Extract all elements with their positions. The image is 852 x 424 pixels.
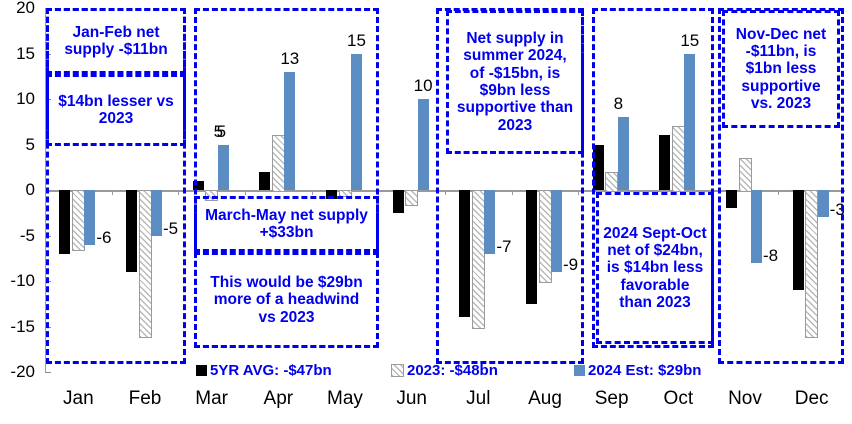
legend-item-2[interactable]: 2024 Est: $29bn — [574, 362, 701, 379]
y-tick-label: 0 — [0, 180, 35, 200]
annotation-summer: Net supply in summer 2024, of -$15bn, is… — [446, 10, 584, 154]
y-tick-label: -15 — [0, 317, 35, 337]
legend-label-2: 2024 Est: $29bn — [588, 362, 701, 379]
y-tick-label: 10 — [0, 89, 35, 109]
bar-jun-2 — [418, 99, 429, 190]
x-axis-label-sep: Sep — [578, 388, 645, 410]
x-axis-label-mar: Mar — [178, 388, 245, 410]
y-tick-label: 20 — [0, 0, 35, 18]
y-tick-label: 15 — [0, 44, 35, 64]
annotation-mar-may-bottom: This would be $29bn more of a headwind v… — [194, 252, 379, 348]
blue-square-icon — [574, 365, 585, 376]
x-axis-label-feb: Feb — [112, 388, 179, 410]
hatched-square-icon — [391, 364, 404, 377]
annotation-sept-oct: 2024 Sept-Oct net of $24bn, is $14bn les… — [596, 192, 714, 344]
x-axis-label-jan: Jan — [45, 388, 112, 410]
x-axis-label-may: May — [312, 388, 379, 410]
legend-item-1[interactable]: 2023: -$48bn — [391, 362, 498, 379]
y-tick-label: -20 — [0, 362, 35, 382]
x-axis-label-nov: Nov — [712, 388, 779, 410]
legend-label-1: 2023: -$48bn — [407, 362, 498, 379]
x-axis-label-apr: Apr — [245, 388, 312, 410]
x-axis-label-jul: Jul — [445, 388, 512, 410]
annotation-mar-may-top: March-May net supply +$33bn — [194, 196, 379, 252]
chart-root: 20151050-5-10-15-20 -6-55131510-7-9815-8… — [0, 0, 852, 424]
annotation-jan-feb-outline — [46, 8, 186, 364]
bar-jun-1 — [405, 190, 418, 206]
annotation-nov-dec: Nov-Dec net -$11bn, is $1bn less support… — [722, 10, 840, 128]
bar-value-label-jun: 10 — [414, 76, 433, 96]
y-tick-mark — [45, 372, 51, 373]
y-tick-label: -5 — [0, 226, 35, 246]
x-axis-label-dec: Dec — [778, 388, 845, 410]
x-axis-label-oct: Oct — [645, 388, 712, 410]
y-tick-label: 5 — [0, 135, 35, 155]
legend: 5YR AVG: -$47bn2023: -$48bn2024 Est: $29… — [196, 360, 716, 382]
x-axis-label-aug: Aug — [512, 388, 579, 410]
x-axis-label-jun: Jun — [378, 388, 445, 410]
legend-item-0[interactable]: 5YR AVG: -$47bn — [196, 362, 332, 379]
bar-jun-0 — [393, 190, 404, 213]
legend-label-0: 5YR AVG: -$47bn — [210, 362, 332, 379]
black-square-icon — [196, 365, 207, 376]
y-tick-label: -10 — [0, 271, 35, 291]
